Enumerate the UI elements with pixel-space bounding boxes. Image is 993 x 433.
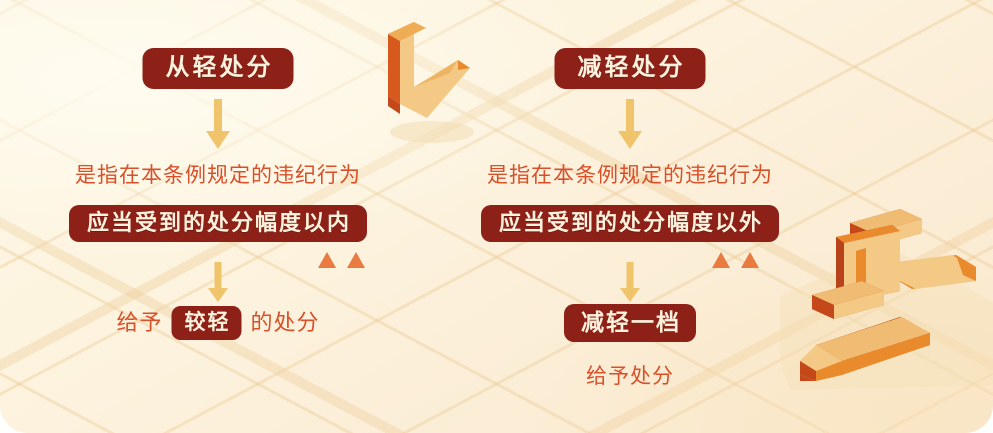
result-footer-text: 给予处分 <box>586 366 674 387</box>
column-title-badge: 从轻处分 <box>143 48 294 89</box>
result-prefix-text: 给予 <box>116 312 162 334</box>
infographic-canvas: 从轻处分 是指在本条例规定的违纪行为 应当受到的处分幅度以内 给予 较轻 的处分… <box>0 0 993 433</box>
result-chip-badge: 较轻 <box>172 306 242 340</box>
caret-up-icon <box>712 252 730 268</box>
column-lenient-punishment: 从轻处分 是指在本条例规定的违纪行为 应当受到的处分幅度以内 给予 较轻 的处分 <box>8 0 428 433</box>
column-description: 是指在本条例规定的违纪行为 <box>487 165 773 186</box>
arrow-down-icon <box>613 99 647 151</box>
column-rule-badge: 应当受到的处分幅度以内 <box>69 205 367 242</box>
caret-up-icon <box>347 252 365 268</box>
result-suffix-text: 的处分 <box>251 312 320 334</box>
gavel-icon <box>780 185 993 400</box>
result-chip-badge: 减轻一档 <box>564 304 696 342</box>
arrow-down-icon <box>201 99 235 151</box>
down-arrow-3d-icon <box>370 8 485 143</box>
arrow-down-icon <box>616 262 644 304</box>
emphasis-caret-group <box>318 252 365 268</box>
column-title-badge: 减轻处分 <box>555 48 706 89</box>
caret-up-icon <box>318 252 336 268</box>
column-description: 是指在本条例规定的违纪行为 <box>75 165 361 186</box>
result-line: 给予 较轻 的处分 <box>116 306 319 340</box>
arrow-down-icon <box>204 262 232 304</box>
emphasis-caret-group <box>712 252 759 268</box>
column-rule-badge: 应当受到的处分幅度以外 <box>481 205 779 242</box>
caret-up-icon <box>741 252 759 268</box>
